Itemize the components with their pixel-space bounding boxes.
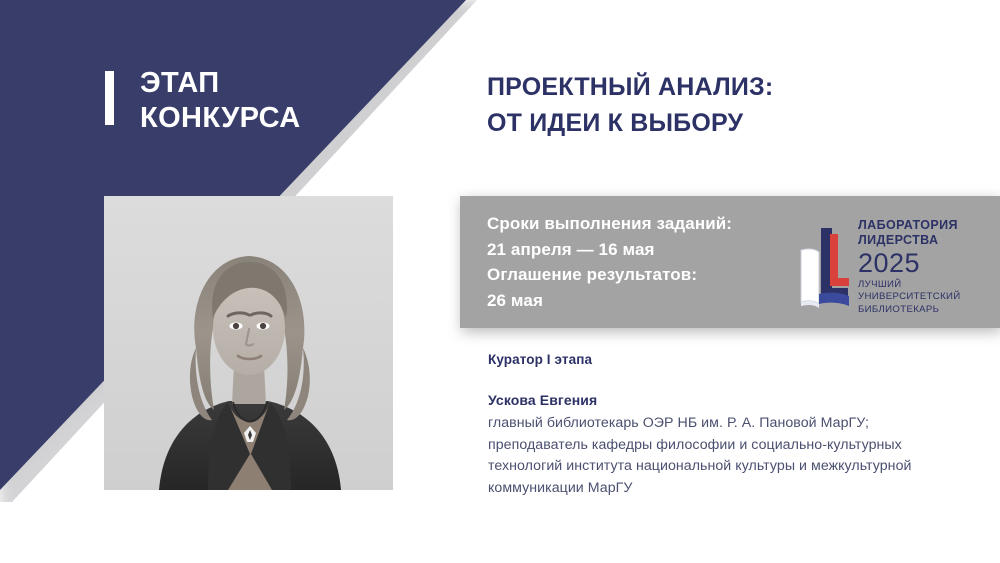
slide-canvas: ЭТАП КОНКУРСА [0, 0, 1000, 563]
page-title: ПРОЕКТНЫЙ АНАЛИЗ: ОТ ИДЕИ К ВЫБОРУ [487, 70, 773, 141]
stage-badge: ЭТАП КОНКУРСА [105, 66, 301, 137]
curator-name: Ускова Евгения [488, 392, 978, 408]
curator-role: Куратор I этапа [488, 352, 978, 367]
logo-year: 2025 [858, 249, 961, 277]
stage-badge-label: ЭТАП КОНКУРСА [140, 66, 301, 137]
curator-block: Куратор I этапа Ускова Евгения главный б… [488, 352, 978, 499]
contest-logo: ЛАБОРАТОРИЯ ЛИДЕРСТВА 2025 ЛУЧШИЙ УНИВЕР… [797, 213, 957, 321]
contest-logo-text: ЛАБОРАТОРИЯ ЛИДЕРСТВА 2025 ЛУЧШИЙ УНИВЕР… [858, 218, 961, 316]
book-flag-logo-icon [797, 222, 851, 312]
vertical-bar-icon [105, 71, 114, 125]
logo-subtitle: ЛУЧШИЙ УНИВЕРСИТЕТСКИЙ БИБЛИОТЕКАРЬ [858, 279, 961, 316]
logo-title: ЛАБОРАТОРИЯ ЛИДЕРСТВА [858, 218, 961, 249]
dates-band-text: Сроки выполнения заданий: 21 апреля — 16… [487, 211, 732, 313]
curator-bio: главный библиотекарь ОЭР НБ им. Р. А. Па… [488, 413, 978, 499]
curator-portrait-photo [104, 196, 393, 490]
